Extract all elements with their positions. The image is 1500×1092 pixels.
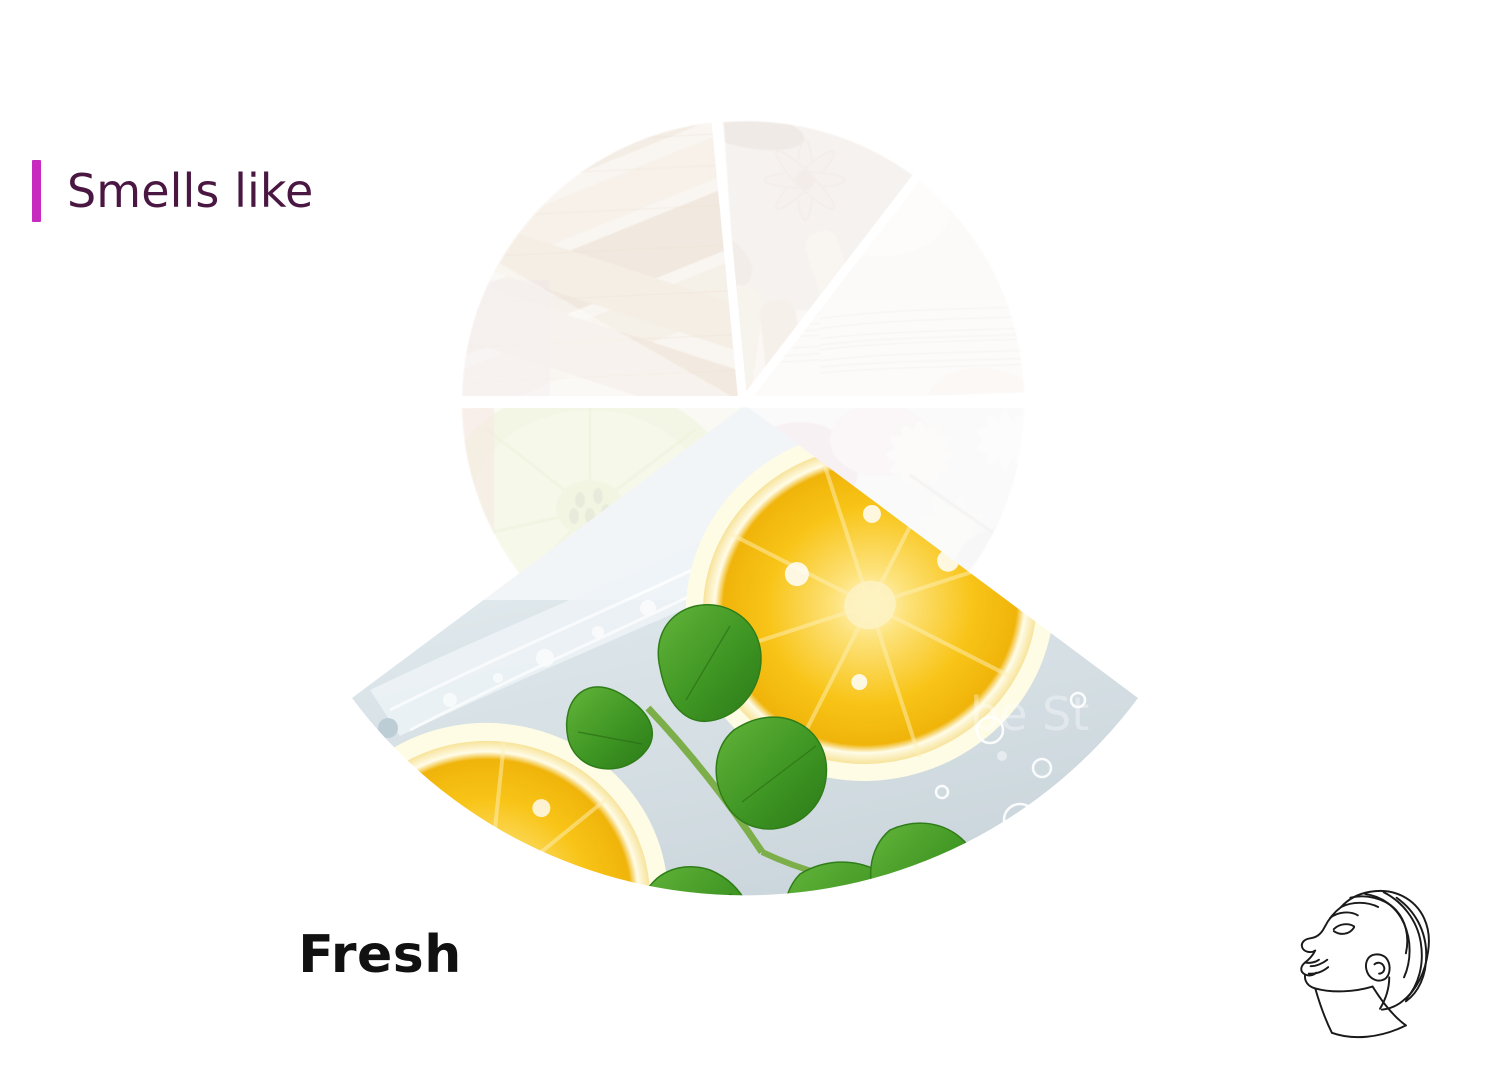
page-title: Smells like [67, 168, 313, 214]
pie-slice-fresh[interactable] [352, 405, 1138, 895]
page-header: Smells like [32, 160, 313, 222]
nose-smelling-profile-icon [1285, 870, 1475, 1055]
pie-slice-woody-body [462, 122, 743, 403]
accent-bar [32, 160, 41, 222]
